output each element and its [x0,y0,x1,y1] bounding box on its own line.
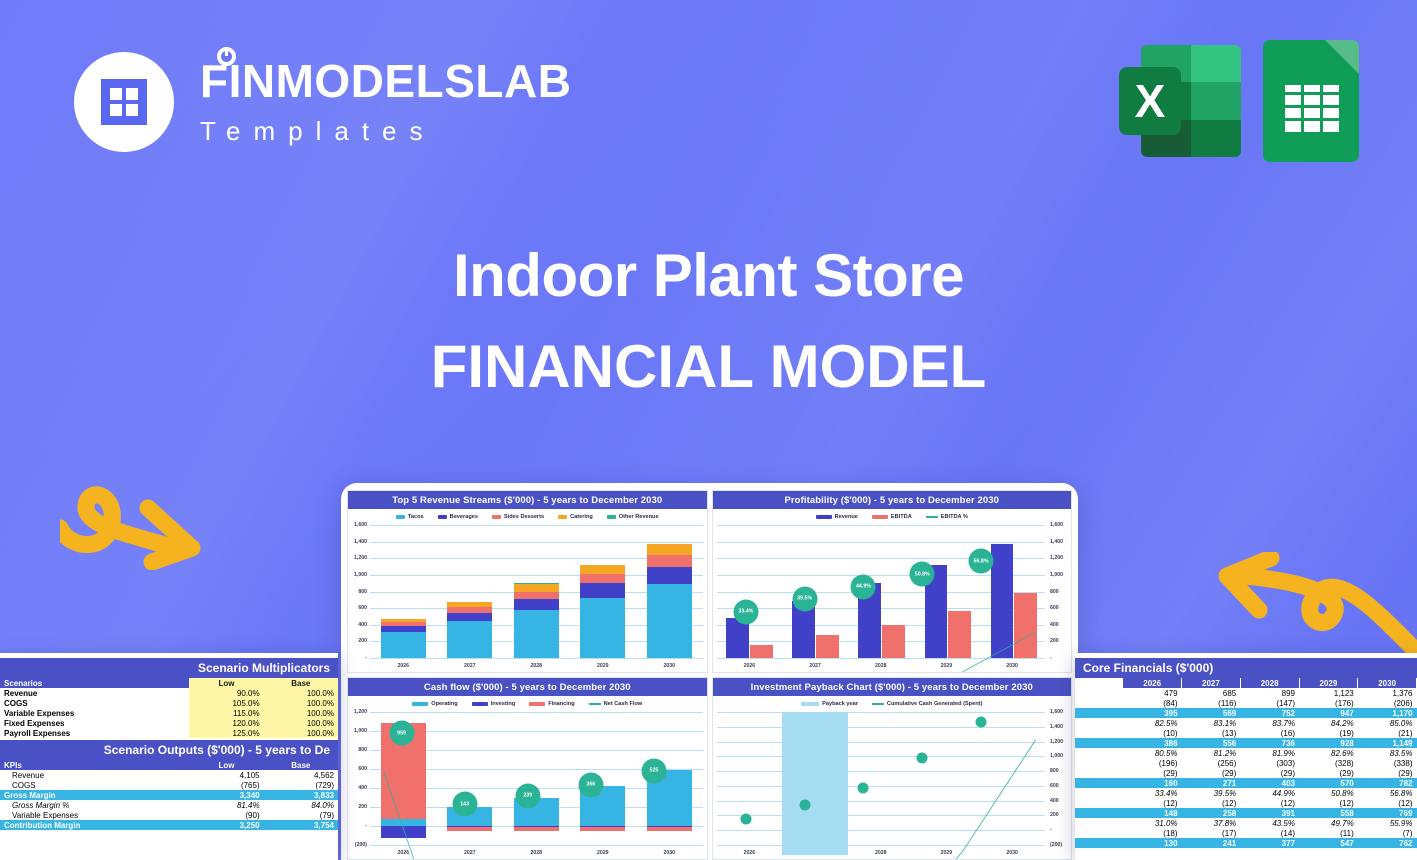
google-sheets-icon [1263,40,1359,162]
bar-segment [514,584,559,592]
legend-label: Revenue [835,514,858,520]
legend-label: Tacos [408,514,424,520]
bar-segment [514,592,559,599]
axis-tick-label: (200) [355,842,367,848]
cell-value: 928 [1299,738,1358,748]
bar [1014,593,1037,658]
legend-swatch-icon [396,515,405,519]
axis-tick-label: 200 [358,804,367,810]
data-label-bubble: 959 [389,721,414,746]
table-row: Variable Expenses(90)(79) [0,810,338,820]
axis-tick-label: 2027 [447,850,492,856]
cell-value: 1,149 [1358,738,1417,748]
axis-tick-label: 400 [358,785,367,791]
legend-item: Net Cash Flow [589,701,643,707]
bar-group [989,525,1039,658]
data-label-bubble: 39.5% [792,586,817,611]
row-label-spacer [1075,688,1123,698]
chart-y-axis: (200)-2004006008001,0001,200 [348,712,369,845]
axis-tick-label: 1,200 [1050,555,1063,561]
cell-value: (17) [1182,828,1241,838]
column-header-year: 2029 [1299,678,1358,688]
cell-value: (729) [264,780,338,790]
cell-value: 377 [1240,838,1299,848]
axis-tick-label: 2029 [924,850,968,856]
chart-x-axis: 20262027202820292030 [717,846,1046,859]
legend-label: EBITDA % [941,514,968,520]
cell-value: 90.0% [189,688,263,698]
axis-tick-label: 800 [358,589,367,595]
data-label-bubble: 56.8% [969,549,994,574]
axis-tick-label: 1,000 [354,728,367,734]
legend-label: Payback year [822,701,858,707]
table-row: (18)(17)(14)(11)(7) [1075,828,1417,838]
axis-tick-label: 2029 [580,850,625,856]
cell-value: 3,833 [264,790,338,800]
payback-band-rect [782,712,848,855]
table-row: 82.5%83.1%83.7%84.2%85.0% [1075,718,1417,728]
cell-value: 769 [1358,808,1417,818]
row-label: Gross Margin % [0,800,189,810]
row-label-spacer [1075,798,1123,808]
cell-value: 83.5% [1358,748,1417,758]
legend-swatch-icon [412,702,428,706]
column-header-year: 2028 [1240,678,1299,688]
cell-value: 81.4% [189,800,263,810]
chart-y-axis: -2004006008001,0001,2001,4001,600 [348,525,369,658]
legend-item: Payback year [801,701,858,707]
core-financials-title: Core Financials ($'000) [1075,658,1417,678]
cell-value: 160 [1123,778,1182,788]
bar-stack [381,525,426,658]
cell-value: 386 [1123,738,1182,748]
bar-segment [381,632,426,658]
chart-plot-revenue-streams: -2004006008001,0001,2001,4001,600 202620… [348,523,707,672]
axis-tick-label: 600 [1050,783,1059,789]
cell-value: (765) [189,780,263,790]
bar-segment [447,613,492,621]
cell-value: 752 [1240,708,1299,718]
legend-swatch-icon [472,702,488,706]
axis-tick-label: 2026 [381,663,426,669]
cell-value: (11) [1299,828,1358,838]
bar-stack [580,525,625,658]
bar-stack [514,712,559,845]
bar [948,611,971,658]
table-row: Payroll Expenses125.0%100.0% [0,728,338,738]
cell-value: (29) [1299,768,1358,778]
table-row: (12)(12)(12)(12)(12) [1075,798,1417,808]
legend-label: Operating [431,701,457,707]
brand-logo: FINMODELSLAB Templates [74,52,571,152]
chart-bars [717,525,1048,658]
bar-segment [647,827,692,831]
column-header-base: Base [264,678,338,688]
axis-tick-label: 2027 [447,663,492,669]
bar-segment [580,565,625,574]
legend-swatch-icon [801,702,819,706]
cell-value: (328) [1299,758,1358,768]
bar-group [923,525,973,658]
table-row: (10)(13)(16)(19)(21) [1075,728,1417,738]
axis-tick-label: 1,000 [354,572,367,578]
cell-value: 33.4% [1123,788,1182,798]
table-row: 3865567369281,149 [1075,738,1417,748]
cell-value: (147) [1240,698,1299,708]
axis-tick-label: 1,400 [1050,539,1063,545]
axis-tick-label: 2028 [859,850,903,856]
cell-value: (19) [1299,728,1358,738]
table-row: 130241377547762 [1075,838,1417,848]
legend-label: Beverages [450,514,478,520]
table-row: 148258391558769 [1075,808,1417,818]
axis-tick-label: 200 [358,638,367,644]
axis-tick-label: 1,200 [354,555,367,561]
cell-value: (18) [1123,828,1182,838]
cell-value: 31.0% [1123,818,1182,828]
legend-label: Cumulative Cash Generated (Spent) [887,701,982,707]
chart-x-axis: 20262027202820292030 [717,659,1046,672]
cell-value: 556 [1182,738,1241,748]
axis-tick-label: 2028 [514,663,559,669]
row-label: Variable Expenses [0,810,189,820]
table-row: Contribution Margin3,2503,754 [0,820,338,830]
legend-item: Catering [558,514,593,520]
chart-panel-revenue-streams: Top 5 Revenue Streams ($'000) - 5 years … [347,490,708,673]
table-row: (196)(256)(303)(328)(338) [1075,758,1417,768]
table-row: Gross Margin3,3403,833 [0,790,338,800]
row-label-spacer [1075,808,1123,818]
axis-tick-label: 1,000 [1050,572,1063,578]
table-row: (84)(116)(147)(176)(206) [1075,698,1417,708]
cell-value: (196) [1123,758,1182,768]
table-row: (29)(29)(29)(29)(29) [1075,768,1417,778]
table-row: Variable Expenses115.0%100.0% [0,708,338,718]
cell-value: 782 [1358,778,1417,788]
column-header-year: 2026 [1123,678,1182,688]
table-row: Revenue4,1054,562 [0,770,338,780]
axis-tick-label: 200 [1050,812,1059,818]
cell-value: 120.0% [189,718,263,728]
cell-value: 241 [1182,838,1241,848]
cell-value: 81.9% [1240,748,1299,758]
legend-item: Tacos [396,514,424,520]
legend-line-icon [589,703,601,705]
legend-swatch-icon [558,515,567,519]
row-label: Variable Expenses [0,708,189,718]
core-financials-panel: Core Financials ($'000) 2026202720282029… [1075,653,1417,860]
cell-value: 3,754 [264,820,338,830]
cell-value: 82.5% [1123,718,1182,728]
column-header-year: 2030 [1358,678,1417,688]
cell-value: (84) [1123,698,1182,708]
scenario-spreadsheet-panel: Scenario Multiplicators Scenarios Low Ba… [0,653,338,860]
dashboard-preview: Top 5 Revenue Streams ($'000) - 5 years … [341,483,1078,860]
chart-title-profitability: Profitability ($'000) - 5 years to Decem… [713,491,1072,509]
cell-value: 83.7% [1240,718,1299,728]
cell-value: (21) [1358,728,1417,738]
row-label-spacer [1075,768,1123,778]
data-point-marker [917,753,928,764]
legend-item: Beverages [438,514,478,520]
cell-value: 762 [1358,838,1417,848]
row-label: COGS [0,698,189,708]
cell-value: 1,376 [1358,688,1417,698]
bar-segment [514,610,559,658]
cell-value: (29) [1358,768,1417,778]
legend-item: EBITDA % [926,514,968,520]
axis-tick-label: 2026 [727,850,771,856]
axis-tick-label: 1,000 [1050,753,1063,759]
row-label: Fixed Expenses [0,718,189,728]
table-row: 3955697529471,170 [1075,708,1417,718]
table-header-row: Scenarios Low Base [0,678,338,688]
axis-tick-label: 800 [358,747,367,753]
table-header-row: KPIs Low Base [0,760,338,770]
page-title: Indoor Plant Store [0,244,1417,309]
cell-value: 39.5% [1182,788,1241,798]
cell-value: (206) [1358,698,1417,708]
row-label-spacer [1075,828,1123,838]
table-row: 160271403570782 [1075,778,1417,788]
row-label-spacer [1075,748,1123,758]
bar-stack [447,525,492,658]
data-label-bubble: 50.8% [910,562,935,587]
cell-value: (256) [1182,758,1241,768]
cell-value: 50.8% [1299,788,1358,798]
row-label-spacer [1075,788,1123,798]
cell-value: (12) [1123,798,1182,808]
bar-segment [580,827,625,831]
bar [750,645,773,658]
bar-group [725,525,775,658]
table-row: 80.5%81.2%81.9%82.6%83.5% [1075,748,1417,758]
chart-x-axis: 20262027202820292030 [370,659,703,672]
table-row: Fixed Expenses120.0%100.0% [0,718,338,728]
row-label: Revenue [0,770,189,780]
row-label-spacer [1075,698,1123,708]
legend-item: Sides Desserts [492,514,544,520]
cell-value: 1,123 [1299,688,1358,698]
data-point-marker [740,813,751,824]
cell-value: 82.6% [1299,748,1358,758]
axis-tick-label: - [1050,655,1052,661]
data-point-marker [858,783,869,794]
legend-line-icon [872,703,884,705]
cell-value: 84.2% [1299,718,1358,728]
cell-value: 947 [1299,708,1358,718]
table-header-row: 20262027202820292030 [1075,678,1417,688]
axis-tick-label: 2028 [859,663,903,669]
bar-segment [580,598,625,658]
cell-value: 3,340 [189,790,263,800]
cell-value: 558 [1299,808,1358,818]
cell-value: (7) [1358,828,1417,838]
row-label: Contribution Margin [0,820,189,830]
cell-value: (13) [1182,728,1241,738]
axis-tick-label: - [365,655,367,661]
scenario-multiplicators-body: Revenue90.0%100.0%COGS105.0%100.0%Variab… [0,688,338,738]
logo-power-dot-icon [217,47,236,66]
legend-swatch-icon [872,515,888,519]
row-label-spacer [1075,728,1123,738]
cell-value: 547 [1299,838,1358,848]
cell-value: 1,170 [1358,708,1417,718]
cell-value: (29) [1182,768,1241,778]
bar-segment [647,584,692,658]
legend-swatch-icon [607,515,616,519]
axis-tick-label: 2030 [647,663,692,669]
chart-title-cash-flow: Cash flow ($'000) - 5 years to December … [348,678,707,696]
axis-tick-label: 1,600 [1050,709,1063,715]
axis-tick-label: 1,200 [1050,739,1063,745]
axis-tick-label: - [365,823,367,829]
cell-value: (176) [1299,698,1358,708]
axis-tick-label: 800 [1050,768,1059,774]
axis-tick-label: 200 [1050,638,1059,644]
axis-tick-label: 2029 [580,663,625,669]
axis-tick-label: 1,400 [354,539,367,545]
column-header-base: Base [264,760,338,770]
cell-value: (338) [1358,758,1417,768]
column-header-low: Low [189,760,263,770]
cell-value: 37.8% [1182,818,1241,828]
cell-value: 130 [1123,838,1182,848]
cell-value: 100.0% [264,728,338,738]
chart-legend-investment-payback: Payback year Cumulative Cash Generated (… [713,696,1072,710]
legend-item: Other Revenue [607,514,659,520]
chart-y-axis: -2004006008001,0001,2001,4001,600 [1047,525,1071,658]
chart-plot-cash-flow: (200)-2004006008001,0001,200 95914323936… [348,710,707,859]
cell-value: (12) [1299,798,1358,808]
cell-value: 391 [1240,808,1299,818]
chart-gridlines [717,712,1046,845]
logo-mark [74,52,174,152]
data-label-bubble: 525 [641,758,666,783]
cell-value: 736 [1240,738,1299,748]
table-row: 31.0%37.8%43.5%49.7%55.9% [1075,818,1417,828]
cell-value: (90) [189,810,263,820]
core-financials-table: 20262027202820292030 4796858991,1231,376… [1075,678,1417,848]
cell-value: 685 [1182,688,1241,698]
chart-panel-investment-payback: Investment Payback Chart ($'000) - 5 yea… [712,677,1073,860]
row-label-spacer [1075,758,1123,768]
axis-tick-label: 1,400 [1050,724,1063,730]
axis-tick-label: 600 [1050,605,1059,611]
cell-value: 258 [1182,808,1241,818]
bar-segment [514,599,559,610]
row-label-spacer [1075,738,1123,748]
bar-segment [381,819,426,826]
cell-value: 570 [1299,778,1358,788]
row-label-spacer [1075,718,1123,728]
table-row: Revenue90.0%100.0% [0,688,338,698]
row-label: COGS [0,780,189,790]
column-header-low: Low [189,678,263,688]
legend-item: Operating [412,701,457,707]
chart-plot-profitability: -2004006008001,0001,2001,4001,600 33.4%3… [713,523,1072,672]
data-label-bubble: 143 [452,792,477,817]
legend-item: EBITDA [872,514,912,520]
table-row: 33.4%39.5%44.9%50.8%56.8% [1075,788,1417,798]
cell-value: 49.7% [1299,818,1358,828]
chart-plot-investment-payback: (200)-2004006008001,0001,2001,4001,600 2… [713,710,1072,859]
axis-tick-label: 400 [1050,798,1059,804]
cell-value: (14) [1240,828,1299,838]
cell-value: 271 [1182,778,1241,788]
axis-tick-label: 2030 [990,663,1034,669]
cell-value: 56.8% [1358,788,1417,798]
curved-arrow-down-right-icon [60,450,240,570]
bar-segment [647,555,692,567]
chart-panel-cash-flow: Cash flow ($'000) - 5 years to December … [347,677,708,860]
bar-stack [514,525,559,658]
brand-name: FINMODELSLAB [200,58,571,104]
chart-bars [370,525,703,658]
scenario-outputs-body: Revenue4,1054,562COGS(765)(729)Gross Mar… [0,770,338,830]
axis-tick-label: 2030 [990,850,1034,856]
legend-label: Other Revenue [619,514,659,520]
data-point-marker [799,799,810,810]
bar-segment [447,621,492,658]
brand-subtitle: Templates [200,116,571,147]
cell-value: 83.1% [1182,718,1241,728]
app-format-icons: X [1119,40,1359,162]
cell-value: 100.0% [264,718,338,728]
legend-label: Sides Desserts [504,514,544,520]
scenario-outputs-table: KPIs Low Base Revenue4,1054,562COGS(765)… [0,760,338,830]
axis-tick-label: 2026 [381,850,426,856]
data-label-bubble: 239 [515,783,540,808]
chart-panel-profitability: Profitability ($'000) - 5 years to Decem… [712,490,1073,673]
cell-value: 100.0% [264,688,338,698]
column-header-kpis: KPIs [0,760,189,770]
cell-value: 395 [1123,708,1182,718]
legend-swatch-icon [492,515,501,519]
grid-squares-icon [101,79,147,125]
page-subtitle: FINANCIAL MODEL [0,335,1417,400]
row-label: Gross Margin [0,790,189,800]
axis-tick-label: - [1050,827,1052,833]
bar-segment [580,574,625,583]
legend-label: Catering [570,514,593,520]
legend-label: EBITDA [891,514,912,520]
cell-value: (79) [264,810,338,820]
cell-value: 55.9% [1358,818,1417,828]
cell-value: (29) [1240,768,1299,778]
row-label: Revenue [0,688,189,698]
legend-label: Net Cash Flow [604,701,643,707]
legend-swatch-icon [438,515,447,519]
legend-item: Financing [529,701,574,707]
chart-y-axis: (200)-2004006008001,0001,2001,4001,600 [1047,712,1071,845]
cell-value: 148 [1123,808,1182,818]
scenario-outputs-title: Scenario Outputs ($'000) - 5 years to De [0,740,338,760]
cell-value: 3,250 [189,820,263,830]
axis-tick-label: 2027 [793,663,837,669]
bar-segment [580,583,625,598]
cell-value: 4,562 [264,770,338,780]
legend-item: Revenue [816,514,858,520]
legend-swatch-icon [529,702,545,706]
legend-line-icon [926,516,938,518]
legend-swatch-icon [816,515,832,519]
chart-legend-profitability: Revenue EBITDA EBITDA % [713,509,1072,523]
legend-label: Financing [548,701,574,707]
chart-x-axis: 20262027202820292030 [370,846,703,859]
axis-tick-label: 600 [358,605,367,611]
table-row: 4796858991,1231,376 [1075,688,1417,698]
